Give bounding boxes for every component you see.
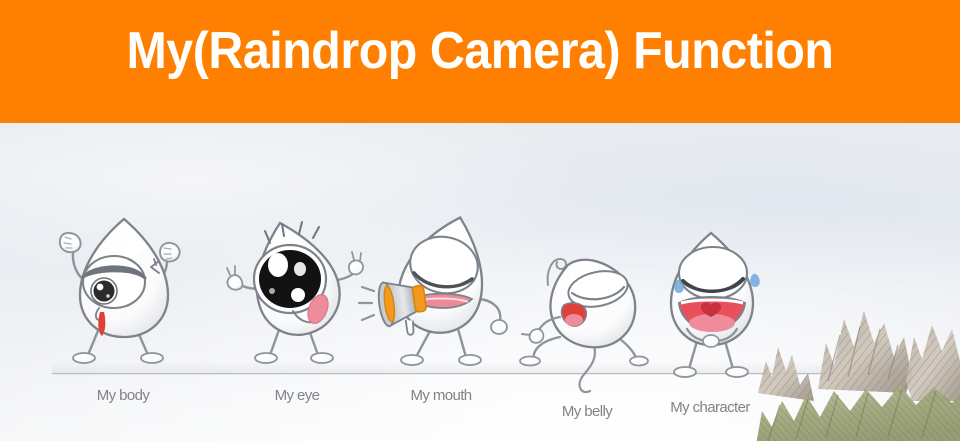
character-scene: My body bbox=[0, 123, 960, 441]
promo-banner: My(Raindrop Camera) Function bbox=[0, 0, 960, 441]
character-item-mouth: My mouth bbox=[356, 203, 526, 433]
character-item-body: My body bbox=[38, 203, 208, 433]
raindrop-mascot-flexing-icon bbox=[38, 203, 208, 383]
character-label-mouth: My mouth bbox=[356, 387, 526, 404]
page-title: My(Raindrop Camera) Function bbox=[34, 18, 927, 84]
character-item-character: My character bbox=[625, 215, 795, 441]
character-label-body: My body bbox=[38, 387, 208, 404]
raindrop-mascot-megaphone-icon bbox=[356, 203, 526, 383]
character-label-character: My character bbox=[625, 399, 795, 416]
raindrop-mascot-laughing-icon bbox=[625, 215, 795, 395]
header-band: My(Raindrop Camera) Function bbox=[0, 0, 960, 123]
